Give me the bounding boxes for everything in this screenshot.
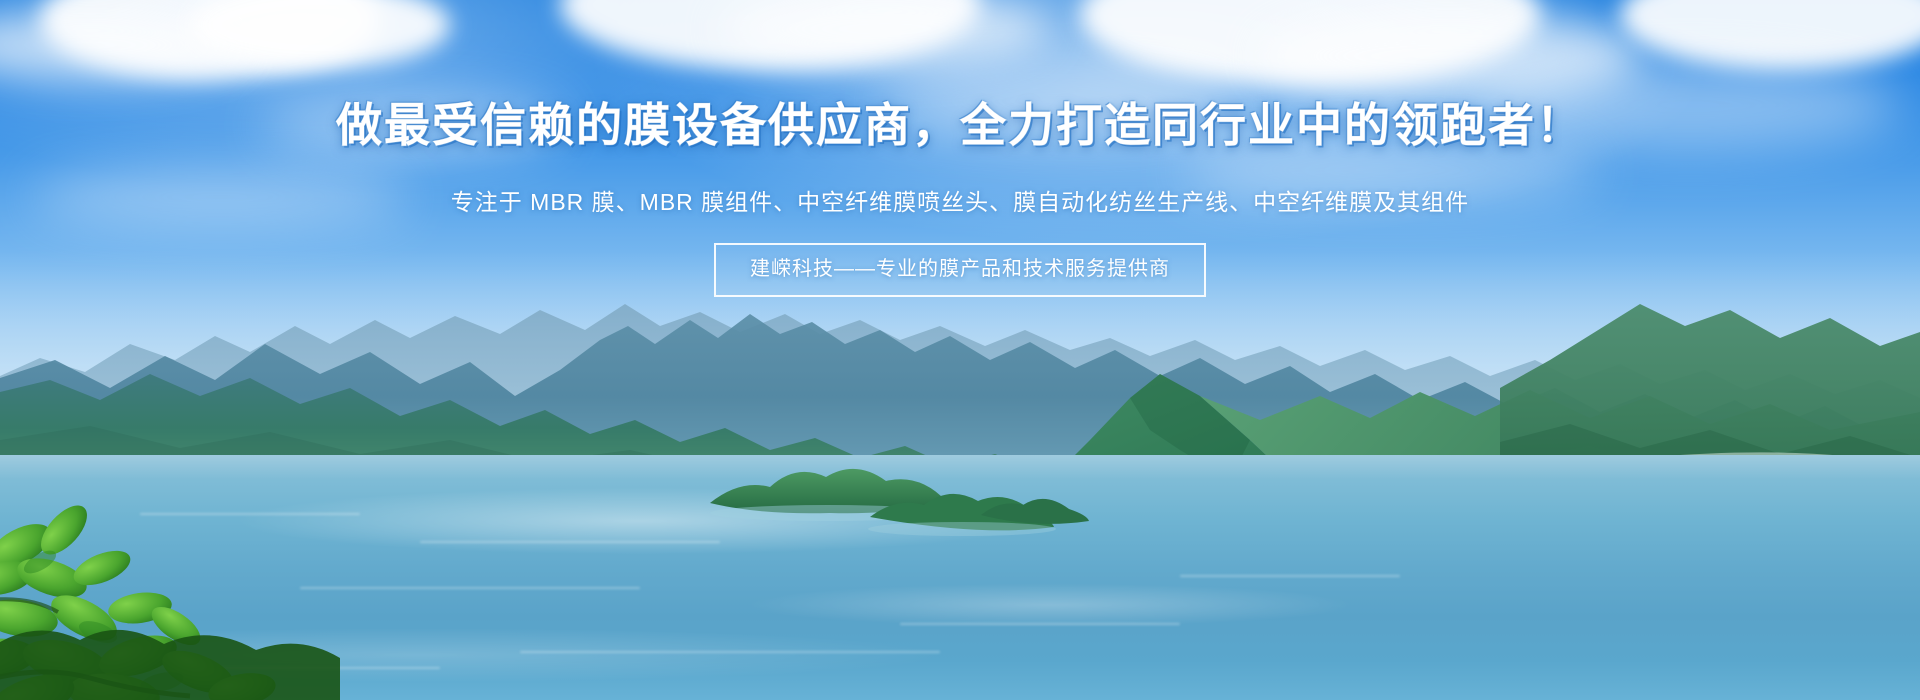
banner-tagline-box: 建嵘科技——专业的膜产品和技术服务提供商 — [714, 243, 1206, 297]
banner-subheadline: 专注于 MBR 膜、MBR 膜组件、中空纤维膜喷丝头、膜自动化纺丝生产线、中空纤… — [0, 186, 1920, 218]
banner-headline: 做最受信赖的膜设备供应商，全力打造同行业中的领跑者！ — [0, 99, 1920, 151]
banner-content: 做最受信赖的膜设备供应商，全力打造同行业中的领跑者！ 专注于 MBR 膜、MBR… — [0, 0, 1920, 700]
hero-banner: 做最受信赖的膜设备供应商，全力打造同行业中的领跑者！ 专注于 MBR 膜、MBR… — [0, 0, 1920, 700]
banner-tagline-container: 建嵘科技——专业的膜产品和技术服务提供商 — [0, 243, 1920, 297]
